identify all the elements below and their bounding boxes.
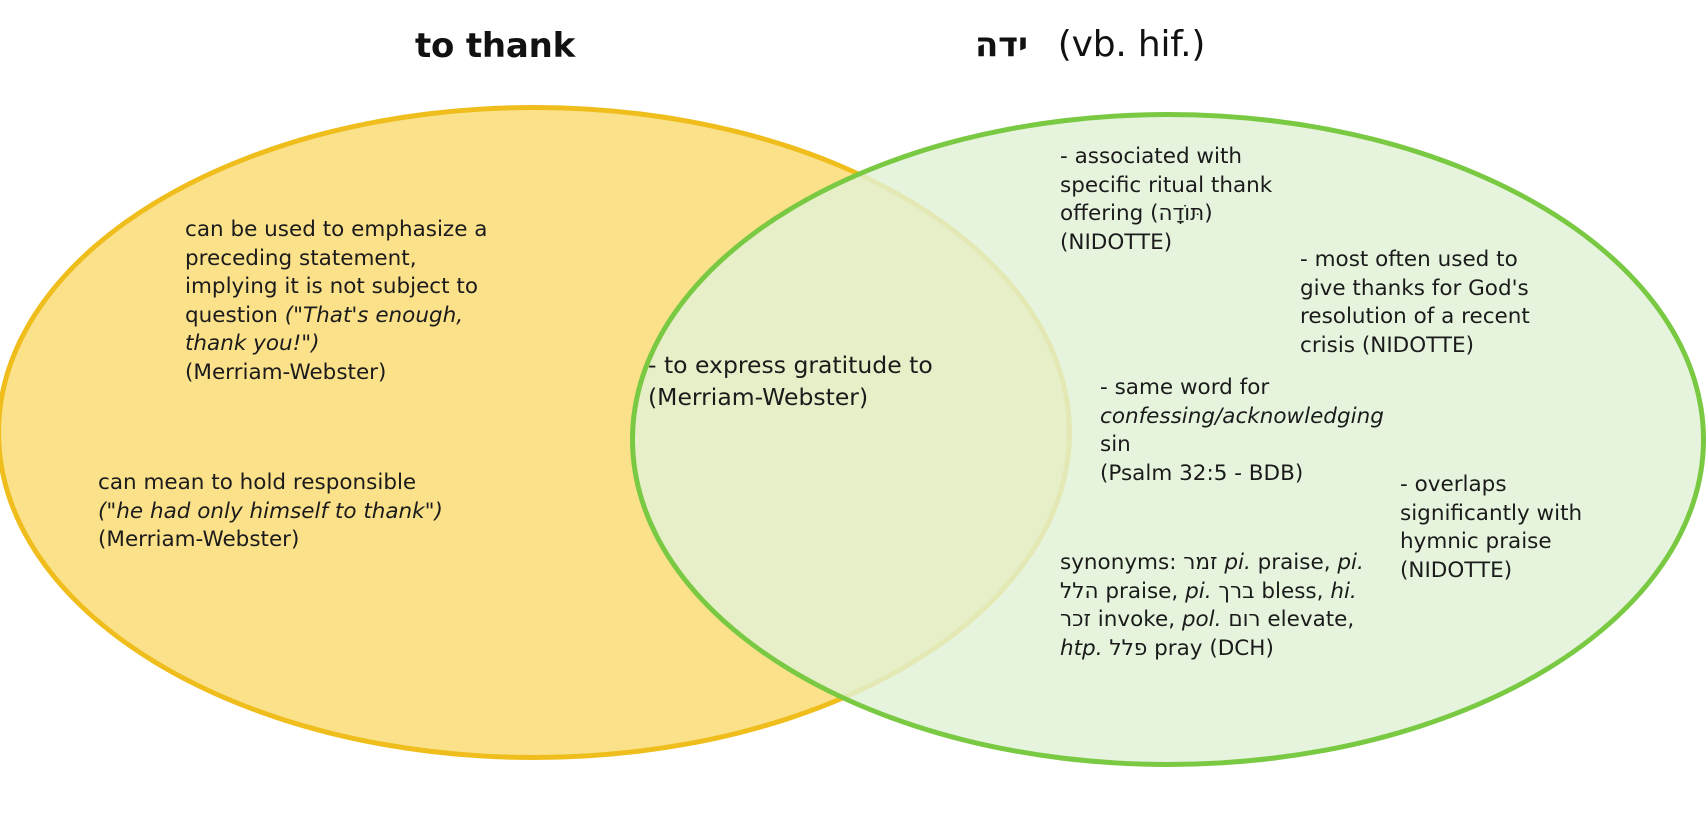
venn-diagram-canvas: to thank ידה(vb. hif.) can be used to em… — [0, 0, 1706, 820]
intersection-line-1: - to express gratitude to — [648, 351, 933, 379]
synonym-stem-0: pi. — [1224, 550, 1250, 575]
right-item-ritual-source: (NIDOTTE) — [1060, 230, 1172, 255]
right-title-hebrew-word: ידה — [975, 25, 1058, 65]
right-item-ritual-l2: specific ritual thank — [1060, 173, 1272, 198]
right-title-gloss: (vb. hif.) — [1058, 24, 1205, 65]
synonym-gloss-3: invoke — [1098, 607, 1168, 632]
right-item-over-l2: significantly with — [1400, 501, 1582, 526]
synonym-gloss-1: praise — [1105, 579, 1171, 604]
left-item-hold-responsible-l1: can mean to hold responsible — [98, 470, 416, 495]
right-item-same-emphasis: confessing/acknowledging — [1100, 404, 1384, 429]
right-item-hymnic-overlap: - overlaps significantly with hymnic pra… — [1400, 471, 1600, 585]
synonyms-source: DCH — [1218, 636, 1266, 661]
synonym-stem-2: pi. — [1185, 579, 1211, 604]
left-item-emphasize-l4: question — [185, 303, 285, 328]
right-item-same-l1: - same word for — [1100, 375, 1269, 400]
left-item-emphasize-l1: can be used to emphasize a — [185, 217, 487, 242]
left-item-emphasize-l3: implying it is not subject to — [185, 274, 478, 299]
synonym-stem-3: hi. — [1330, 579, 1356, 604]
synonym-hebrew-2: ברך — [1218, 579, 1254, 604]
right-item-same-source: (Psalm 32:5 - BDB) — [1100, 461, 1303, 486]
intersection-line-2: (Merriam-Webster) — [648, 383, 868, 411]
left-item-hold-responsible-quote: ("he had only himself to thank") — [98, 499, 443, 524]
left-item-hold-responsible-source: (Merriam-Webster) — [98, 527, 299, 552]
left-item-emphasize: can be used to emphasize a preceding sta… — [185, 216, 515, 388]
right-item-thanks-resolution: - most often used to give thanks for God… — [1300, 246, 1540, 360]
left-item-emphasize-quote-b: thank you!") — [185, 331, 320, 356]
left-circle-title: to thank — [415, 26, 575, 66]
right-item-over-l3: hymnic praise — [1400, 529, 1552, 554]
right-item-most-l4: crisis (NIDOTTE) — [1300, 333, 1474, 358]
right-item-ritual-l3: offering (תּוֹדָה) — [1060, 201, 1213, 226]
synonym-hebrew-1: הלל — [1060, 579, 1099, 604]
synonym-stem-4: pol. — [1182, 607, 1222, 632]
intersection-item: - to express gratitude to (Merriam-Webst… — [648, 349, 1048, 414]
left-item-emphasize-l2: preceding statement, — [185, 246, 417, 271]
left-item-hold-responsible: can mean to hold responsible ("he had on… — [98, 469, 448, 555]
synonym-hebrew-3: זכר — [1060, 607, 1091, 632]
synonym-hebrew-5: פלל — [1109, 636, 1147, 661]
synonyms-label: synonyms: — [1060, 550, 1176, 575]
right-item-most-l2: give thanks for God's — [1300, 276, 1529, 301]
right-item-ritual-l1: - associated with — [1060, 144, 1242, 169]
synonym-stem-1: pi. — [1337, 550, 1363, 575]
right-item-over-l1: - overlaps — [1400, 472, 1507, 497]
synonym-gloss-2: bless — [1261, 579, 1316, 604]
synonym-gloss-5: pray — [1154, 636, 1202, 661]
right-item-ritual-offering: - associated with specific ritual thank … — [1060, 143, 1310, 257]
right-item-most-l3: resolution of a recent — [1300, 304, 1530, 329]
right-item-most-l1: - most often used to — [1300, 247, 1518, 272]
synonym-hebrew-0: זמר — [1183, 550, 1217, 575]
synonym-gloss-4: elevate — [1267, 607, 1347, 632]
synonym-gloss-0: praise — [1258, 550, 1324, 575]
right-item-confessing-sin: - same word for confessing/acknowledging… — [1100, 374, 1420, 488]
left-item-emphasize-source: (Merriam-Webster) — [185, 360, 386, 385]
left-item-emphasize-quote-a: ("That's enough, — [285, 303, 463, 328]
right-synonyms-list: synonyms: זמר pi. praise, pi. הלל praise… — [1060, 549, 1390, 663]
right-item-same-tail: sin — [1100, 432, 1131, 457]
synonym-stem-5: htp. — [1060, 636, 1103, 661]
right-circle-title: ידה(vb. hif.) — [975, 24, 1205, 65]
right-item-over-source: (NIDOTTE) — [1400, 558, 1512, 583]
synonym-hebrew-4: רום — [1228, 607, 1260, 632]
